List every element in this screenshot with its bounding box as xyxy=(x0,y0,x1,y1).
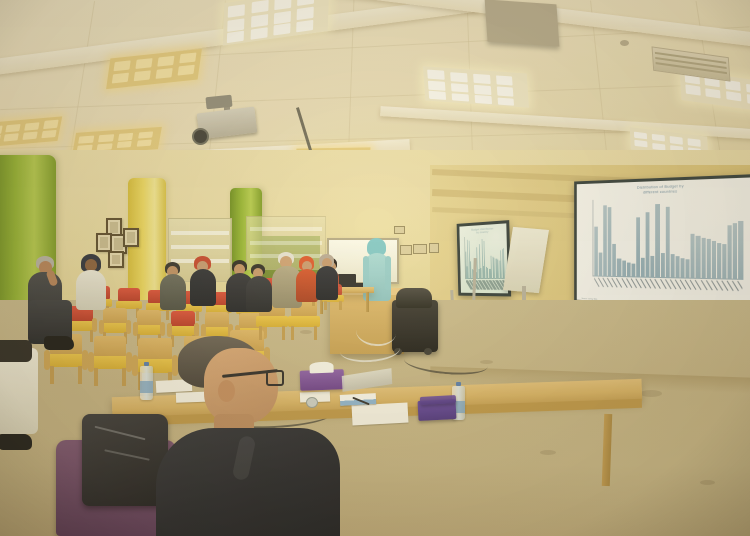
chart-x-tick xyxy=(646,279,650,298)
chart-x-tick xyxy=(622,278,626,297)
chart-x-tick xyxy=(712,280,716,300)
chart-bar xyxy=(733,223,737,279)
attendee-headscarf-red-back xyxy=(190,256,216,306)
sprinkler-head-icon xyxy=(620,40,629,46)
chart-x-tick xyxy=(631,278,635,297)
chart-bar xyxy=(666,207,670,278)
ceiling-speaker-icon xyxy=(485,0,560,47)
chart-x-tick xyxy=(706,280,710,300)
wall-sign xyxy=(394,226,405,234)
chart-x-tick xyxy=(594,277,598,295)
chart-bar xyxy=(594,226,598,276)
chart-x-tick xyxy=(656,279,660,298)
chart-x-tick xyxy=(603,278,607,296)
chart-bar xyxy=(622,261,626,277)
chart-x-tick xyxy=(671,279,675,298)
attendee-headscarf-grey xyxy=(316,254,338,300)
chart-bar xyxy=(599,252,603,276)
chart-bar xyxy=(613,244,617,277)
paper-sheet xyxy=(352,403,409,426)
chart-x-tick xyxy=(608,278,612,296)
chart-bar xyxy=(631,263,635,277)
chart-x-tick xyxy=(666,279,670,298)
chart-x-tick xyxy=(701,280,705,300)
backpack-zipper xyxy=(104,449,149,461)
chart-x-tick xyxy=(696,280,700,299)
chart-bar xyxy=(627,262,631,277)
chart-bar xyxy=(503,249,504,280)
chart-x-tick xyxy=(651,279,655,298)
presenter-arm xyxy=(363,256,369,290)
chart-bar xyxy=(681,258,685,278)
secondary-screen-surface: Budget distribution by country xyxy=(459,223,508,293)
chart-bar xyxy=(712,241,716,279)
chart-bar xyxy=(608,207,612,277)
chart-x-tick xyxy=(691,280,695,299)
chart-x-tick xyxy=(722,280,726,300)
chart-bar xyxy=(484,241,485,279)
chart-x-tick xyxy=(636,278,640,297)
chart-bar xyxy=(676,256,680,278)
chart-bars xyxy=(465,235,505,280)
water-bottle xyxy=(140,366,153,400)
chart-bar xyxy=(686,260,690,279)
chart-x-tick xyxy=(676,279,680,298)
chart-x-tick xyxy=(661,279,665,298)
chart-x-tick xyxy=(627,278,631,297)
chart-x-tick xyxy=(599,278,603,296)
main-projection-screen[interactable]: Distribution of Budget by different coun… xyxy=(574,174,750,310)
wall-sign xyxy=(413,244,427,254)
slide-content: Budget distribution by country xyxy=(459,223,508,293)
chart-bar xyxy=(641,258,645,278)
chart-bar xyxy=(656,204,660,278)
chart-x-tick xyxy=(728,281,732,301)
chart-bar xyxy=(728,225,732,279)
projector-lens-icon xyxy=(192,128,209,145)
eyeglasses-lens xyxy=(266,370,284,386)
chart-bar xyxy=(481,239,482,279)
foreground-attendee xyxy=(160,336,340,536)
chart-x-tick xyxy=(733,281,737,301)
chart-bar xyxy=(706,239,710,279)
chart-x-tick-labels xyxy=(466,280,505,291)
slide-bar-chart xyxy=(462,234,505,292)
chart-x-tick xyxy=(617,278,621,297)
chart-bar xyxy=(617,259,621,277)
chart-x-tick xyxy=(717,280,721,300)
bottle-cap xyxy=(144,362,150,366)
attendee-ear xyxy=(218,380,235,402)
chart-bar xyxy=(636,218,640,278)
chart-bar xyxy=(701,237,705,278)
bottle-label xyxy=(140,381,153,393)
wall-sign xyxy=(429,243,439,253)
attendee-head xyxy=(204,348,278,424)
conference-room-photo: Distribution of Budget by different coun… xyxy=(0,0,750,536)
chart-bar xyxy=(739,221,743,279)
chart-bar xyxy=(696,236,700,279)
main-screen-surface: Distribution of Budget by different coun… xyxy=(577,177,750,306)
attendee-mid-left xyxy=(160,262,186,310)
attendee-in-white-robe xyxy=(0,348,44,458)
chart-bar xyxy=(651,256,655,278)
presenter-arm xyxy=(385,256,391,290)
slide-bar-chart xyxy=(585,194,744,305)
attendee-orange-headscarf xyxy=(296,256,318,302)
office-chair-back xyxy=(396,288,432,308)
chart-bar xyxy=(671,254,675,278)
chart-bar xyxy=(722,244,726,279)
chart-x-tick-labels xyxy=(594,277,743,300)
table-leg xyxy=(366,292,369,312)
attendee-mid-right xyxy=(246,264,272,312)
chart-x-tick xyxy=(613,278,617,296)
chart-bars xyxy=(594,196,743,280)
attendee-headscarf-white xyxy=(76,254,106,310)
backpack-zipper xyxy=(95,426,146,441)
slide-content: Distribution of Budget by different coun… xyxy=(577,177,750,306)
chart-x-tick xyxy=(681,279,685,298)
chart-x-tick xyxy=(641,279,645,298)
chart-bar xyxy=(661,253,665,278)
chart-x-tick xyxy=(739,281,743,301)
chart-bar xyxy=(717,243,721,280)
audience-chair[interactable] xyxy=(90,336,130,386)
wall-sign xyxy=(400,245,412,255)
chart-bar xyxy=(691,234,695,279)
chart-bar xyxy=(646,213,650,278)
chart-bar xyxy=(603,205,607,276)
bottle-cap xyxy=(456,382,462,386)
shoe xyxy=(44,336,74,350)
chart-x-tick xyxy=(686,280,690,299)
